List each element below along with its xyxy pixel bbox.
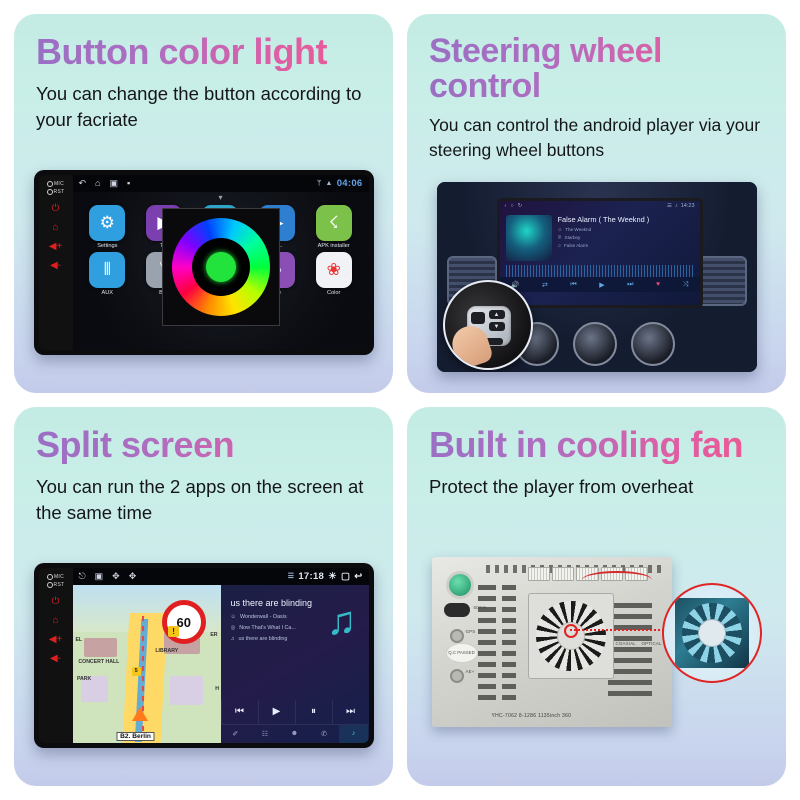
- hardware-photo: Q.C PASSED 50mm GPS AE+ COAXIAL OPTICAL …: [432, 547, 762, 737]
- map-label: EL: [75, 637, 82, 643]
- device-rear-panel: Q.C PASSED 50mm GPS AE+ COAXIAL OPTICAL …: [432, 557, 672, 727]
- player-body: False Alarm ( The Weeknd ) ☺The Weeknd ◎…: [500, 211, 700, 265]
- app-item[interactable]: ☇APK installer: [307, 205, 361, 249]
- previous-button[interactable]: ⏮: [221, 700, 258, 724]
- previous-button[interactable]: ⏮: [570, 281, 576, 289]
- app-label: APK installer: [318, 243, 350, 249]
- android-icon: ☇: [316, 205, 352, 241]
- map-label: ER: [210, 632, 217, 638]
- artist-icon: ☺: [231, 614, 237, 620]
- route-marker: 5: [132, 667, 141, 676]
- album-icon: ◎: [231, 625, 236, 631]
- home-nav-icon[interactable]: ⌂: [95, 178, 100, 188]
- red-wire: [582, 571, 652, 589]
- app-label: AUX: [102, 290, 114, 296]
- wifi-icon: ▲: [325, 180, 332, 187]
- reset-label: RST: [47, 582, 65, 588]
- player-status-right: ☰ ♪ 14:23: [667, 203, 694, 209]
- heat-grille-mid: [502, 585, 516, 705]
- navigation-pane[interactable]: CONCERT HALL LIBRARY PARK EL ER H 60 ! 5…: [73, 585, 221, 743]
- tab-equalizer[interactable]: ☷: [250, 725, 280, 743]
- track-name: us there are blinding: [239, 636, 288, 642]
- apps-icon[interactable]: ▪: [127, 178, 130, 188]
- recents-icon[interactable]: ▣: [109, 178, 118, 189]
- next-button[interactable]: ⏭: [627, 281, 633, 289]
- track-title: False Alarm ( The Weeknd ): [558, 215, 694, 224]
- color-wheel-selected-swatch: [206, 252, 236, 282]
- connector-black: [444, 603, 470, 617]
- recents-button-icon[interactable]: ▢: [341, 571, 350, 582]
- status-bar: ⎋ ▣ ✥ ✥ ☰ 17:18 ☀ ▢ ↩: [73, 568, 369, 585]
- album-icon: ◎: [558, 234, 562, 240]
- reset-label: RST: [47, 189, 65, 195]
- play-button[interactable]: ▶: [599, 281, 604, 289]
- album-name: Now That's What I Ca...: [239, 625, 296, 631]
- android-player-screen[interactable]: ‹ ○ ↻ ☰ ♪ 14:23 False Alarm ( The Weeknd…: [497, 198, 703, 308]
- track-name: False Alarm: [564, 243, 588, 248]
- fan-callout-circle: [662, 583, 762, 683]
- status-clock: ᛘ ▲ 04:06: [317, 178, 363, 189]
- brightness-icon[interactable]: ☀: [328, 571, 337, 582]
- music-tab-bar: ✐ ☷ ☻ ✆ ♪: [221, 724, 369, 743]
- album-name: Starboy: [565, 235, 581, 240]
- volume-up-icon[interactable]: ◀+: [49, 635, 63, 645]
- bluetooth-icon: ᛘ: [317, 180, 322, 187]
- mic-label: MIC: [47, 181, 64, 187]
- tab-music[interactable]: ♪: [339, 725, 369, 743]
- pin-icon[interactable]: ✥: [129, 571, 137, 582]
- callout-origin-marker: [564, 624, 578, 638]
- split-screen-container: CONCERT HALL LIBRARY PARK EL ER H 60 ! 5…: [73, 585, 369, 743]
- head-unit-device: MIC RST ⏻ ⌂ ◀+ ◀- ⎋ ▣ ✥ ✥ ☰ 17:1: [34, 563, 374, 748]
- device-bezel: MIC RST ⏻ ⌂ ◀+ ◀-: [39, 568, 73, 743]
- port-label-coaxial: COAXIAL: [616, 641, 636, 646]
- port-label-aerial: AE+: [466, 669, 475, 674]
- map-label: PARK: [77, 676, 91, 682]
- qc-sticker: Q.C PASSED: [446, 643, 478, 663]
- signal-icon: ☰: [667, 203, 672, 209]
- track-icon: ♫: [231, 636, 235, 642]
- down-arrow-icon: ▼: [494, 324, 500, 330]
- artist-name: The Weeknd: [565, 227, 591, 232]
- app-item[interactable]: ⫴AUX: [81, 252, 135, 296]
- speed-limit-sign: 60: [162, 600, 206, 644]
- card-description: You can change the button according to y…: [36, 81, 376, 134]
- steering-wheel-closeup: ▲ ▼: [443, 280, 533, 370]
- tab-phone[interactable]: ✆: [309, 725, 339, 743]
- back-icon[interactable]: ‹: [505, 203, 507, 209]
- expand-button[interactable]: ⤨: [683, 281, 689, 289]
- antenna-port-green: [446, 571, 474, 599]
- chevron-down-icon[interactable]: ▾: [73, 193, 369, 202]
- player-metadata: False Alarm ( The Weeknd ) ☺The Weeknd ◎…: [558, 215, 694, 261]
- home-icon[interactable]: ⌂: [52, 223, 58, 233]
- up-arrow-icon: ▲: [494, 312, 500, 318]
- artist-name: Wonderwall - Oasis: [240, 614, 287, 620]
- warning-icon: !: [168, 626, 179, 637]
- map-route-dashes: [142, 616, 144, 742]
- card-title: Steering wheel control: [429, 34, 770, 103]
- refresh-icon[interactable]: ↻: [518, 203, 523, 209]
- infographic-page: Button color light You can change the bu…: [0, 0, 800, 800]
- heat-grille-left: [478, 585, 496, 705]
- map-building: [84, 638, 117, 657]
- favorite-button[interactable]: ♥: [656, 281, 660, 288]
- device-screen[interactable]: ↶ ⌂ ▣ ▪ ᛘ ▲ 04:06 ▾ ⚙Settings: [73, 175, 369, 350]
- track-icon: ♫: [558, 243, 561, 248]
- meta-row: ☺The Weeknd: [558, 227, 694, 232]
- device-screen[interactable]: ⎋ ▣ ✥ ✥ ☰ 17:18 ☀ ▢ ↩: [73, 568, 369, 743]
- port-label-50mm: 50mm: [474, 605, 487, 610]
- player-status-bar: ‹ ○ ↻ ☰ ♪ 14:23: [500, 201, 700, 211]
- music-note-icon: ♫: [327, 599, 357, 644]
- home-icon[interactable]: ⌂: [52, 616, 58, 626]
- ac-knob-mode[interactable]: [631, 322, 675, 366]
- map-label: CONCERT HALL: [78, 659, 119, 665]
- play-button[interactable]: ▶: [258, 700, 295, 724]
- destination-label: B2. Berlin: [116, 732, 155, 741]
- map-label: LIBRARY: [155, 648, 178, 654]
- serial-label: YHC-7062 8-1286 1135inch 360: [492, 713, 572, 719]
- status-right: ☰ 17:18 ☀ ▢ ↩: [288, 571, 363, 582]
- tab-tools[interactable]: ✐: [221, 725, 251, 743]
- card-steering-wheel-control: Steering wheel control You can control t…: [407, 14, 786, 393]
- volume-up-icon[interactable]: ◀+: [49, 242, 63, 252]
- volume-icon: ♪: [675, 203, 678, 209]
- back-button-icon[interactable]: ↩: [354, 571, 362, 582]
- color-icon: ❀: [316, 252, 352, 288]
- card-media: Q.C PASSED 50mm GPS AE+ COAXIAL OPTICAL …: [423, 510, 770, 774]
- swc-plus-button[interactable]: [471, 312, 485, 324]
- player-controls: 🔊 ⇄ ⏮ ▶ ⏭ ♥ ⤨: [500, 277, 700, 292]
- home-nav-icon[interactable]: ⎋: [79, 571, 86, 582]
- clock-label: 17:18: [298, 571, 324, 582]
- gps-port: [450, 629, 464, 643]
- card-button-color-light: Button color light You can change the bu…: [14, 14, 393, 393]
- next-button[interactable]: ⏭: [332, 700, 369, 724]
- volume-down-icon[interactable]: ◀-: [50, 654, 61, 664]
- settings-icon: ⚙: [89, 205, 125, 241]
- artist-icon: ☺: [558, 227, 563, 232]
- clock-label: 04:06: [337, 178, 363, 189]
- app-label: Color: [327, 290, 340, 296]
- color-wheel-inner: [192, 238, 250, 296]
- port-label-gps: GPS: [466, 629, 476, 634]
- air-vent-right: [697, 256, 747, 306]
- map-label: H: [215, 686, 219, 692]
- player-clock: 14:23: [681, 203, 695, 209]
- card-media: MIC RST ⏻ ⌂ ◀+ ◀- ⎋ ▣ ✥ ✥ ☰ 17:1: [30, 536, 377, 774]
- signal-icon: ☰: [288, 572, 295, 580]
- map-building: [170, 676, 203, 704]
- card-built-in-cooling-fan: Built in cooling fan Protect the player …: [407, 407, 786, 786]
- color-wheel-overlay[interactable]: [162, 208, 280, 326]
- ac-knob-temperature[interactable]: [573, 322, 617, 366]
- heat-grille-right: [608, 603, 652, 699]
- current-position-arrow: [132, 707, 148, 721]
- mic-label: MIC: [47, 574, 64, 580]
- feature-card-grid: Button color light You can change the bu…: [0, 0, 800, 800]
- album-art: [506, 215, 552, 261]
- power-icon[interactable]: ⏻: [52, 597, 60, 607]
- card-media: MIC RST ⏻ ⌂ ◀+ ◀- ↶ ⌂ ▣ ▪ ᛘ ▲: [30, 143, 377, 381]
- recents-icon[interactable]: ▣: [95, 571, 104, 582]
- pause-button[interactable]: ⏸: [295, 700, 332, 724]
- color-wheel-ring[interactable]: [172, 218, 270, 316]
- app-item[interactable]: ⚙Settings: [81, 205, 135, 249]
- meta-row: ♫False Alarm: [558, 243, 694, 248]
- meta-row: ◎Starboy: [558, 234, 694, 240]
- aux-icon: ⫴: [89, 252, 125, 288]
- card-title: Built in cooling fan: [429, 427, 770, 464]
- car-dashboard-photo: ‹ ○ ↻ ☰ ♪ 14:23 False Alarm ( The Weeknd…: [437, 182, 757, 372]
- aerial-port: [450, 669, 464, 683]
- split-icon[interactable]: ✥: [112, 571, 120, 582]
- head-unit-device: MIC RST ⏻ ⌂ ◀+ ◀- ↶ ⌂ ▣ ▪ ᛘ ▲: [34, 170, 374, 355]
- tab-contacts[interactable]: ☻: [280, 725, 310, 743]
- shuffle-button[interactable]: ⇄: [542, 281, 548, 289]
- back-icon[interactable]: ↶: [79, 178, 87, 189]
- app-item[interactable]: ❀Color: [307, 252, 361, 296]
- status-bar: ↶ ⌂ ▣ ▪ ᛘ ▲ 04:06: [73, 175, 369, 192]
- music-pane[interactable]: ♫ us there are blinding ☺Wonderwall - Oa…: [221, 585, 369, 743]
- music-transport-controls: ⏮ ▶ ⏸ ⏭: [221, 700, 369, 724]
- volume-down-icon[interactable]: ◀-: [50, 261, 61, 271]
- device-bezel: MIC RST ⏻ ⌂ ◀+ ◀-: [39, 175, 73, 350]
- card-description: You can run the 2 apps on the screen at …: [36, 474, 376, 527]
- card-title: Split screen: [36, 427, 377, 464]
- port-label-optical: OPTICAL: [642, 641, 662, 646]
- audio-waveform: [506, 265, 694, 277]
- card-title: Button color light: [36, 34, 377, 71]
- power-icon[interactable]: ⏻: [52, 204, 60, 214]
- card-media: ‹ ○ ↻ ☰ ♪ 14:23 False Alarm ( The Weeknd…: [423, 173, 770, 381]
- card-description: You can control the android player via y…: [429, 113, 769, 163]
- home-icon[interactable]: ○: [510, 203, 513, 209]
- app-label: Settings: [97, 243, 117, 249]
- card-split-screen: Split screen You can run the 2 apps on t…: [14, 407, 393, 786]
- cooling-fan-closeup-image: [675, 598, 749, 668]
- card-description: Protect the player from overheat: [429, 474, 769, 500]
